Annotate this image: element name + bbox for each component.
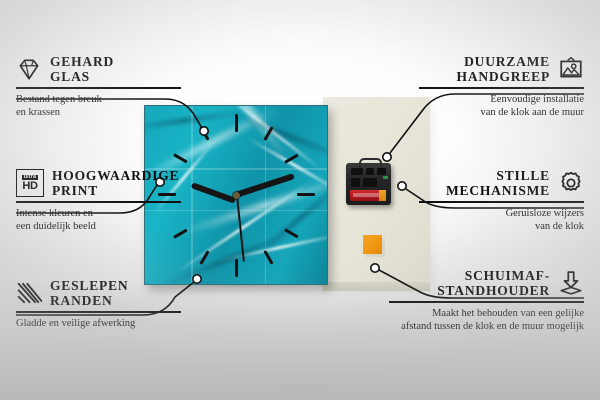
callout-desc-line1: Eenvoudige installatie [419,93,584,106]
gear-icon [558,170,584,196]
callout-desc-line2: en krassen [16,106,181,119]
callout-desc-line2: afstand tussen de klok en de muur mogeli… [389,320,584,333]
infographic-canvas: GEHARD GLAS Bestand tegen breuk en krass… [0,0,600,400]
callout-rule [419,201,584,203]
hanger-hook [359,158,382,168]
clock-hub [233,192,240,199]
foam-spacer [363,235,382,254]
callout-desc-line2: een duidelijk beeld [16,220,181,233]
callout-title-line2: PRINT [52,183,179,198]
callout-rule [419,87,584,89]
callout-stille-mechanisme[interactable]: STILLE MECHANISME Geruisloze wijzers van… [419,168,584,233]
callout-desc-line1: Intense kleuren en [16,207,181,220]
callout-rule [16,87,181,89]
callout-desc-line2: van de klok [419,220,584,233]
ultra-hd-icon-main: HD [22,181,37,192]
callout-rule [16,201,181,203]
callout-title-line2: STANDHOUDER [437,283,550,298]
callout-title-line2: HANDGREEP [457,69,550,84]
clock-tick [235,259,238,277]
press-down-pad-icon [558,270,584,296]
callout-title-line1: GESLEPEN [50,278,128,293]
callout-title-line2: RANDEN [50,293,128,308]
callout-desc-line1: Geruisloze wijzers [419,207,584,220]
callout-desc-line1: Gladde en veilige afwerking [16,317,181,330]
callout-desc-line1: Bestand tegen breuk [16,93,181,106]
callout-rule [389,301,584,303]
ultra-hd-icon-top: ultra [22,175,38,180]
callout-hoogwaardige-print[interactable]: ultra HD HOOGWAARDIGE PRINT Intense kleu… [16,168,181,233]
callout-duurzame-handgreep[interactable]: DUURZAME HANDGREEP Eenvoudige installati… [419,54,584,119]
callout-schuimafstandhouder[interactable]: SCHUIMAF- STANDHOUDER Maakt het behouden… [389,268,584,333]
callout-gehard-glas[interactable]: GEHARD GLAS Bestand tegen breuk en krass… [16,54,181,119]
callout-desc-line2: van de klok aan de muur [419,106,584,119]
callout-geslepen-randen[interactable]: GESLEPEN RANDEN Gladde en veilige afwerk… [16,278,181,330]
callout-title-line1: STILLE [446,168,550,183]
callout-title-line1: HOOGWAARDIGE [52,168,179,183]
clock-tick [297,193,315,196]
diamond-icon [16,56,42,82]
callout-desc-line1: Maakt het behouden van een gelijke [389,307,584,320]
callout-title-line1: GEHARD [50,54,114,69]
callout-rule [16,311,181,313]
clock-tick [235,114,238,132]
battery [350,190,386,201]
callout-title-line1: SCHUIMAF- [437,268,550,283]
clock-mechanism [346,163,391,205]
callout-title-line2: MECHANISME [446,183,550,198]
picture-frame-icon [558,56,584,82]
ultra-hd-icon: ultra HD [16,169,44,197]
callout-title-line2: GLAS [50,69,114,84]
beveled-edges-icon [16,280,42,306]
callout-title-line1: DUURZAME [457,54,550,69]
